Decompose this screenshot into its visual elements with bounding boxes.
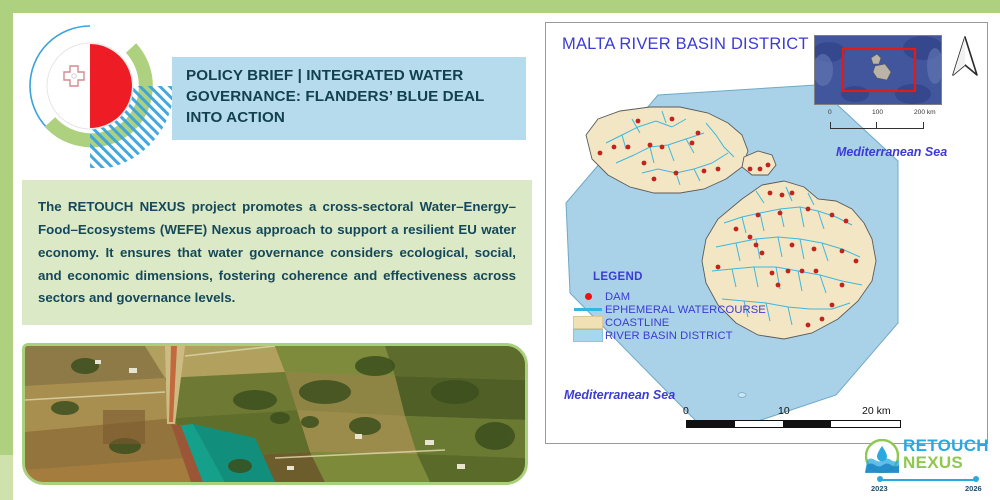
map-legend: LEGEND DAM EPHEMERAL WATERCOURSE COASTLI…	[571, 271, 771, 342]
sea-label-bottom: Mediterranean Sea	[564, 388, 675, 402]
map-scale-bar: 0 10 20 km	[686, 405, 901, 428]
slide-canvas: POLICY BRIEF | INTEGRATED WATER GOVERNAN…	[0, 0, 1000, 500]
malta-river-basin-map-panel: MALTA RIVER BASIN DISTRICT	[545, 22, 988, 444]
decorative-band-left	[0, 0, 13, 500]
legend-label: DAM	[605, 291, 630, 303]
policy-brief-title-box: POLICY BRIEF | INTEGRATED WATER GOVERNAN…	[172, 57, 526, 140]
map-scale-tick-0: 0	[683, 405, 689, 417]
legend-item-rbd: RIVER BASIN DISTRICT	[571, 329, 771, 342]
north-arrow-icon	[950, 35, 980, 77]
legend-label: EPHEMERAL WATERCOURSE	[605, 304, 766, 316]
inset-scale-tick-2: 200 km	[914, 109, 936, 116]
timeline-year-start: 2023	[871, 484, 888, 493]
timeline-dot-start	[877, 476, 883, 482]
legend-item-coastline: COASTLINE	[571, 316, 771, 329]
decorative-band-left-fade	[0, 455, 13, 500]
sea-label-top: Mediterranean Sea	[836, 145, 947, 159]
malta-flag-circle-emblem	[28, 16, 174, 168]
retouch-nexus-logo: RETOUCH NEXUS 2023 2026	[865, 437, 990, 492]
legend-item-dam: DAM	[571, 290, 771, 303]
summary-text-box: The RETOUCH NEXUS project promotes a cro…	[22, 180, 532, 325]
map-scale-tick-2: 20 km	[862, 405, 891, 417]
summary-paragraph: The RETOUCH NEXUS project promotes a cro…	[38, 196, 516, 310]
dam-dot-icon	[571, 293, 605, 300]
page-title: POLICY BRIEF | INTEGRATED WATER GOVERNAN…	[186, 66, 514, 129]
map-scale-tick-1: 10	[778, 405, 790, 417]
locator-inset-map	[814, 35, 942, 105]
logo-word-nexus: NEXUS	[903, 454, 989, 471]
inset-scale-bar: 0 100 200 km	[810, 109, 946, 129]
inset-scale-tick-0: 0	[828, 109, 832, 116]
inset-scale-tick-1: 100	[872, 109, 883, 116]
water-droplet-icon	[865, 439, 899, 473]
river-basin-swatch-icon	[571, 329, 605, 342]
watercourse-line-icon	[571, 308, 605, 311]
timeline-dot-end	[973, 476, 979, 482]
logo-wordmark: RETOUCH NEXUS	[903, 437, 989, 471]
timeline-year-end: 2026	[965, 484, 982, 493]
timeline-line	[879, 479, 977, 481]
legend-title: LEGEND	[593, 271, 771, 283]
legend-label: COASTLINE	[605, 317, 669, 329]
logo-word-retouch: RETOUCH	[903, 437, 989, 454]
aerial-reservoir-photo	[22, 343, 528, 485]
coastline-swatch-icon	[571, 316, 605, 329]
photo-image	[25, 346, 525, 482]
decorative-band-top	[0, 0, 1000, 13]
legend-label: RIVER BASIN DISTRICT	[605, 330, 733, 342]
legend-item-watercourse: EPHEMERAL WATERCOURSE	[571, 303, 771, 316]
